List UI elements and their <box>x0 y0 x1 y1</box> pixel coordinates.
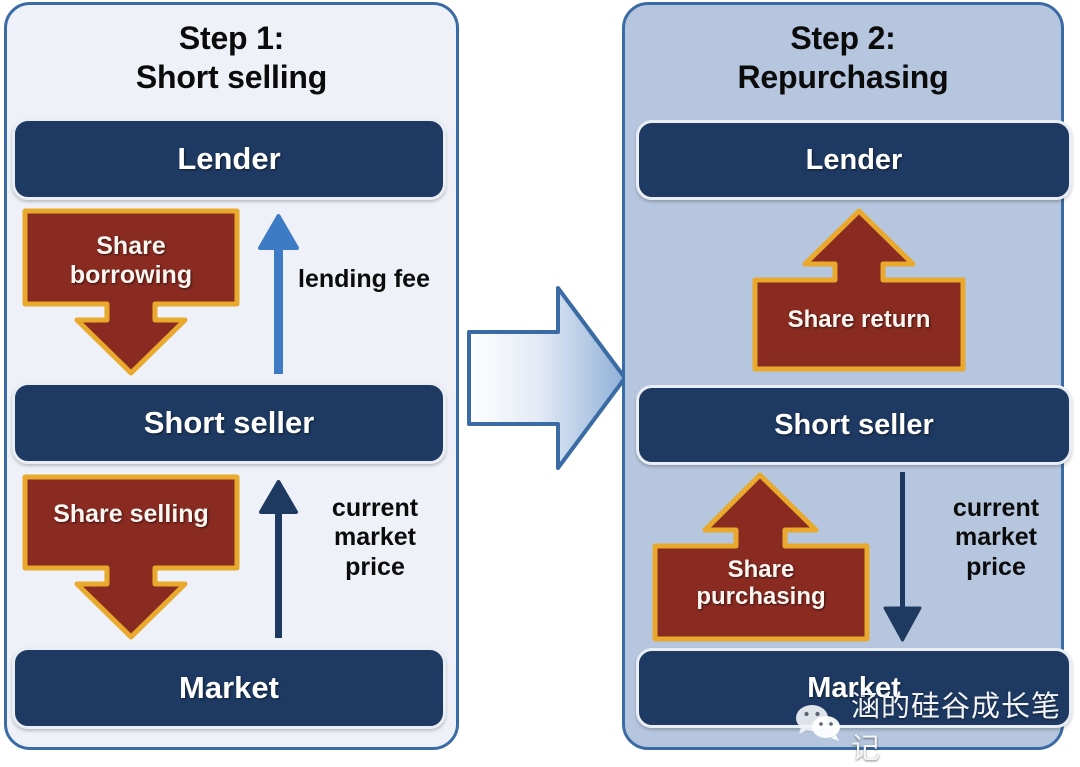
entity-lender-step-2-label: Lender <box>806 144 903 177</box>
up-arrow-icon <box>752 208 966 372</box>
entity-market-step-1[interactable]: Market <box>12 647 446 729</box>
annotation-lending-fee-label: lending fee <box>276 265 452 294</box>
step-transition-arrow <box>466 285 628 471</box>
flow-share-return[interactable]: Share return <box>752 208 966 372</box>
annotation-current-market-price-arrow-step-2 <box>876 470 930 642</box>
panel-step-2-title-line-1: Step 2: <box>625 19 1061 58</box>
panel-step-2-title-line-2: Repurchasing <box>625 58 1061 97</box>
entity-short-seller-step-1[interactable]: Short seller <box>12 382 446 464</box>
annotation-current-market-price-label-step-1: current market price <box>300 494 450 582</box>
price-label-line-1-right: current <box>928 494 1064 523</box>
up-arrow-icon <box>652 472 870 642</box>
up-arrow-icon <box>252 480 306 640</box>
panel-step-1-title-line-2: Short selling <box>7 58 456 97</box>
price-label-line-1-left: current <box>300 494 450 523</box>
price-label-line-2-left: market <box>300 523 450 552</box>
entity-market-step-2-label: Market <box>807 672 901 705</box>
panel-step-2-title: Step 2: Repurchasing <box>625 19 1061 97</box>
annotation-current-market-price-label-step-2: current market price <box>928 494 1064 582</box>
down-arrow-icon <box>22 474 240 640</box>
entity-lender-step-2[interactable]: Lender <box>636 120 1072 200</box>
panel-step-1-title: Step 1: Short selling <box>7 19 456 97</box>
right-arrow-icon <box>466 285 628 471</box>
entity-market-step-1-label: Market <box>179 670 279 706</box>
down-arrow-icon <box>876 470 930 642</box>
down-arrow-icon <box>22 208 240 376</box>
up-arrow-icon <box>252 214 306 376</box>
entity-lender-step-1-label: Lender <box>177 141 280 177</box>
price-label-line-3-left: price <box>300 553 450 582</box>
annotation-current-market-price-arrow-step-1 <box>252 480 306 640</box>
flow-share-purchasing[interactable]: Share purchasing <box>652 472 870 642</box>
panel-step-1-title-line-1: Step 1: <box>7 19 456 58</box>
price-label-line-3-right: price <box>928 553 1064 582</box>
flow-share-selling[interactable]: Share selling <box>22 474 240 640</box>
entity-short-seller-step-1-label: Short seller <box>144 405 315 441</box>
entity-short-seller-step-2-label: Short seller <box>774 409 934 442</box>
entity-short-seller-step-2[interactable]: Short seller <box>636 385 1072 465</box>
entity-market-step-2[interactable]: Market <box>636 648 1072 728</box>
flow-share-borrowing[interactable]: Share borrowing <box>22 208 240 376</box>
price-label-line-2-right: market <box>928 523 1064 552</box>
annotation-lending-fee-arrow <box>252 214 306 376</box>
entity-lender-step-1[interactable]: Lender <box>12 118 446 200</box>
